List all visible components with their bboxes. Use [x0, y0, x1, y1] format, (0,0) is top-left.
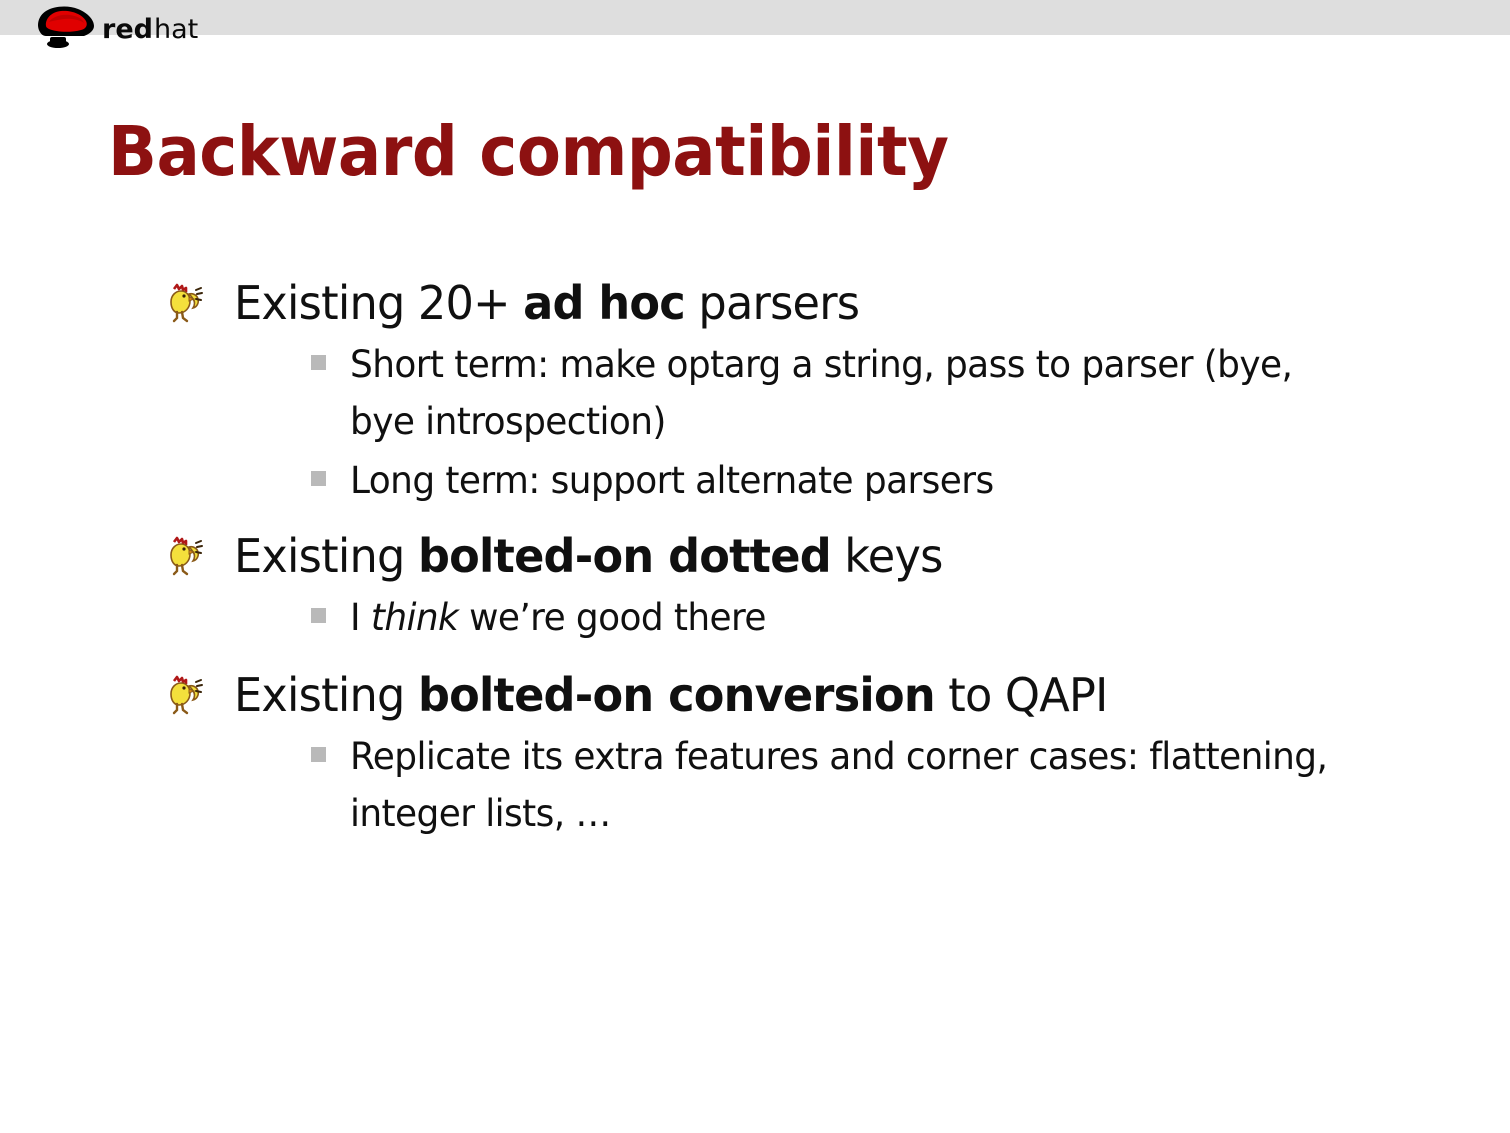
bullet-item: Existing bolted-on dotted keys I think w…: [0, 525, 1510, 646]
wordmark-hat: hat: [154, 14, 198, 45]
bullet-text: Existing 20+ ad hoc parsers: [234, 272, 859, 334]
rooster-icon: [160, 533, 206, 579]
subbullet-text: Long term: support alternate parsers: [350, 452, 994, 509]
subbullet-list: Replicate its extra features and corner …: [0, 728, 1510, 842]
subbullet-text: Replicate its extra features and corner …: [350, 728, 1330, 842]
rooster-icon: [160, 672, 206, 718]
bullet-text: Existing bolted-on dotted keys: [234, 525, 943, 587]
shadowman-hat-icon: [38, 7, 94, 48]
gray-square-icon: [311, 608, 326, 623]
bullet-text: Existing bolted-on conversion to QAPI: [234, 664, 1108, 726]
rooster-icon: [160, 280, 206, 326]
bullet-row: Existing bolted-on dotted keys: [0, 525, 1510, 587]
page-title: Backward compatibility: [108, 112, 949, 192]
subbullet-list: I think we’re good there: [0, 589, 1510, 646]
subbullet-row: Short term: make optarg a string, pass t…: [0, 336, 1510, 450]
subbullet-text: I think we’re good there: [350, 589, 766, 646]
top-banner-bar: [0, 0, 1510, 35]
gray-square-icon: [311, 471, 326, 486]
wordmark-red: red: [102, 14, 153, 45]
slide-content: Existing 20+ ad hoc parsers Short term: …: [0, 272, 1510, 844]
subbullet-row: Long term: support alternate parsers: [0, 452, 1510, 509]
bullet-item: Existing 20+ ad hoc parsers Short term: …: [0, 272, 1510, 509]
subbullet-text: Short term: make optarg a string, pass t…: [350, 336, 1330, 450]
redhat-logo: red hat: [18, 0, 218, 50]
subbullet-row: I think we’re good there: [0, 589, 1510, 646]
bullet-row: Existing 20+ ad hoc parsers: [0, 272, 1510, 334]
bullet-item: Existing bolted-on conversion to QAPI Re…: [0, 664, 1510, 842]
gray-square-icon: [311, 747, 326, 762]
subbullet-list: Short term: make optarg a string, pass t…: [0, 336, 1510, 509]
gray-square-icon: [311, 355, 326, 370]
bullet-row: Existing bolted-on conversion to QAPI: [0, 664, 1510, 726]
subbullet-row: Replicate its extra features and corner …: [0, 728, 1510, 842]
